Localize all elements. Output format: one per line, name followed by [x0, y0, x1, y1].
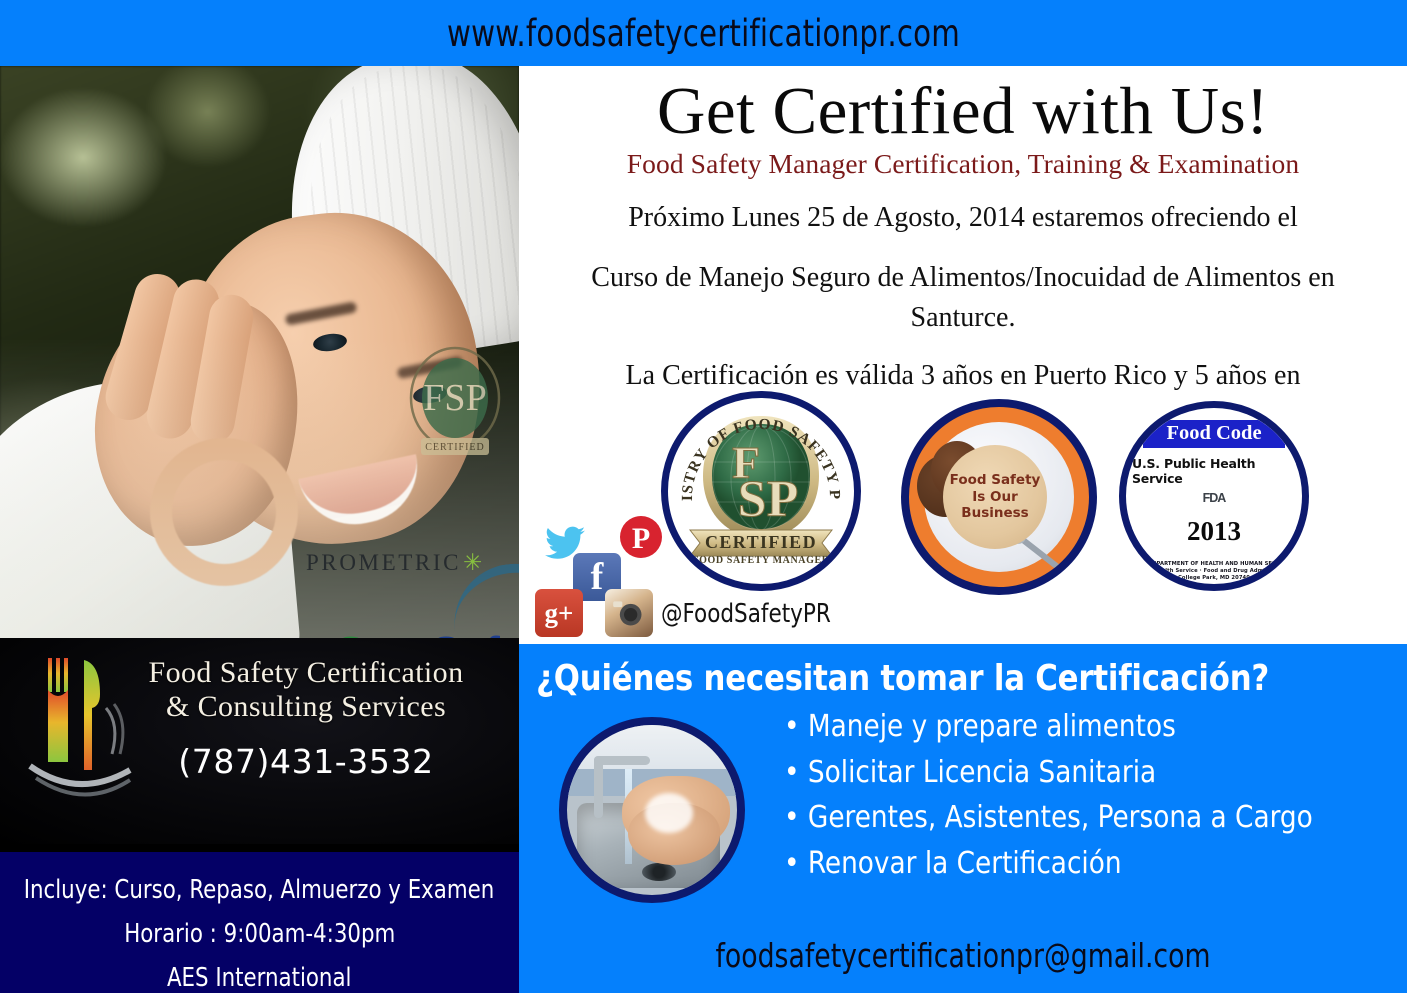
website-url-bar: www.foodsafetycertificationpr.com — [0, 0, 1407, 66]
instagram-icon[interactable] — [605, 589, 653, 637]
coffee-text-line-3: Business — [961, 505, 1028, 521]
svg-text:FSP: FSP — [423, 377, 486, 419]
faucet-icon — [594, 756, 603, 818]
handwashing-photo — [559, 717, 745, 903]
fda-logo: FDA — [1203, 491, 1226, 505]
hero-paragraph-2: Curso de Manejo Seguro de Alimentos/Inoc… — [519, 258, 1407, 338]
fine-print-line-3: College Park, MD 20740 — [1133, 575, 1294, 582]
food-code-agency: U.S. Public Health Service — [1132, 456, 1296, 486]
contact-email-text: foodsafetycertificationpr@gmail.com — [716, 936, 1211, 975]
chef-photo: FSP CERTIFIED PROMETRIC✳ ServSafe Nation… — [0, 66, 519, 638]
fine-print-line-2: Public Health Service · Food and Drug Ad… — [1133, 568, 1294, 575]
list-item: • Maneje y prepare alimentos — [784, 712, 1379, 743]
svg-text:P: P — [632, 522, 650, 555]
pinterest-icon[interactable]: P — [617, 513, 665, 561]
company-name: Food Safety Certification & Consulting S… — [96, 656, 516, 723]
hero-paragraph-3: La Certificación es válida 3 años en Pue… — [519, 356, 1407, 396]
servsafe-serv: Serv — [336, 628, 431, 638]
course-details-block: Incluye: Curso, Repaso, Almuerzo y Exame… — [0, 852, 519, 993]
company-phone[interactable]: (787)431-3532 — [96, 742, 516, 781]
fine-print-line-1: U.S. DEPARTMENT OF HEALTH AND HUMAN SERV… — [1133, 561, 1294, 568]
coffee-text-line-2: Is Our — [972, 489, 1018, 505]
food-code-title: Food Code — [1143, 420, 1284, 448]
left-column: FSP CERTIFIED PROMETRIC✳ ServSafe Nation… — [0, 66, 519, 993]
google-plus-icon[interactable]: g+ — [535, 589, 583, 637]
flyer-canvas: www.foodsafetycertificationpr.com — [0, 0, 1407, 993]
detail-venue: AES International — [167, 958, 352, 993]
social-handle[interactable]: @FoodSafetyPR — [661, 599, 831, 629]
social-media-links: P f g+ @FoodSafetyPR — [529, 511, 849, 631]
food-code-fine-print: U.S. DEPARTMENT OF HEALTH AND HUMAN SERV… — [1133, 561, 1294, 582]
website-url[interactable]: www.foodsafetycertificationpr.com — [447, 12, 960, 55]
contact-email[interactable]: foodsafetycertificationpr@gmail.com — [519, 936, 1407, 975]
company-name-line-2: & Consulting Services — [96, 690, 516, 724]
fsp-seal-watermark-icon: FSP CERTIFIED — [405, 346, 505, 468]
right-column: Get Certified with Us! Food Safety Manag… — [519, 66, 1407, 993]
food-code-year: 2013 — [1187, 516, 1241, 547]
prometric-logo: PROMETRIC✳ — [306, 550, 485, 576]
servsafe-logo: ServSafe National Restaurant Association — [336, 628, 519, 638]
company-logo-band: Food Safety Certification & Consulting S… — [0, 638, 519, 844]
svg-text:CERTIFIED: CERTIFIED — [425, 442, 485, 453]
food-code-badge[interactable]: Food Code U.S. Public Health Service FDA… — [1119, 401, 1309, 591]
page-title: Get Certified with Us! — [519, 66, 1407, 146]
hero-subtitle: Food Safety Manager Certification, Train… — [519, 148, 1407, 180]
list-item: • Gerentes, Asistentes, Persona a Cargo — [784, 803, 1379, 834]
hero-section: Get Certified with Us! Food Safety Manag… — [519, 66, 1407, 644]
food-code-inner: Food Code U.S. Public Health Service FDA… — [1132, 414, 1296, 578]
hero-paragraph-1: Próximo Lunes 25 de Agosto, 2014 estarem… — [519, 198, 1407, 238]
coffee-badge[interactable]: Food Safety Is Our Business — [901, 399, 1097, 595]
coffee-text-line-1: Food Safety — [950, 472, 1041, 488]
detail-schedule: Horario : 9:00am-4:30pm — [124, 914, 395, 956]
company-name-line-1: Food Safety Certification — [96, 656, 516, 690]
coffee-cup-icon: Food Safety Is Our Business — [943, 445, 1047, 549]
list-item: • Renovar la Certificación — [784, 849, 1379, 880]
prometric-label: PROMETRIC — [306, 550, 461, 575]
soap-suds — [645, 793, 693, 833]
servsafe-safe: Safe — [431, 628, 519, 638]
list-item: • Solicitar Licencia Sanitaria — [784, 758, 1379, 789]
audience-panel: ¿Quiénes necesitan tomar la Certificació… — [519, 644, 1407, 993]
detail-includes: Incluye: Curso, Repaso, Almuerzo y Exame… — [24, 870, 495, 912]
audience-list: • Maneje y prepare alimentos • Solicitar… — [784, 712, 1404, 894]
audience-heading: ¿Quiénes necesitan tomar la Certificació… — [519, 644, 1363, 699]
